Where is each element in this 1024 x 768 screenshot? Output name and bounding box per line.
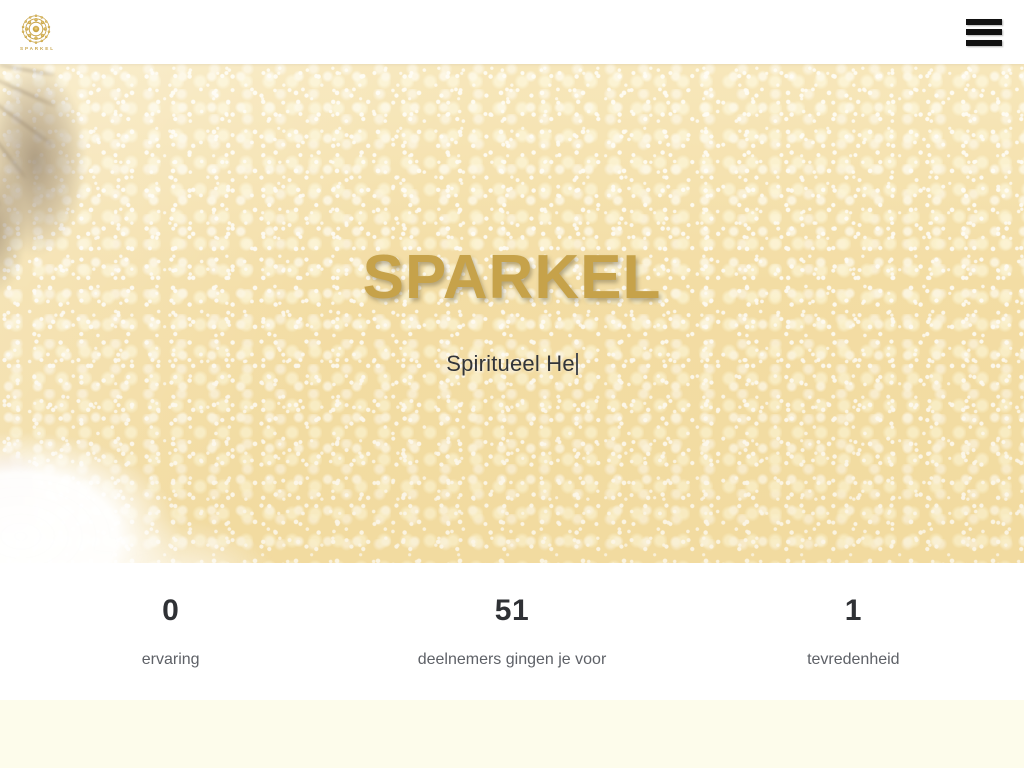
hero-subtitle: Spiritueel He bbox=[0, 351, 1024, 377]
hamburger-menu-icon[interactable] bbox=[966, 19, 1002, 46]
logo-wordmark: SPARKEL bbox=[20, 47, 55, 52]
mandala-icon bbox=[19, 12, 53, 46]
stat-label: tevredenheid bbox=[683, 652, 1024, 668]
stat-value: 1 bbox=[683, 596, 1024, 626]
stats-section: 0 ervaring 51 deelnemers gingen je voor … bbox=[0, 563, 1024, 700]
stat-value: 51 bbox=[341, 596, 682, 626]
next-section bbox=[0, 700, 1024, 768]
stat-value: 0 bbox=[0, 596, 341, 626]
stat-label: ervaring bbox=[0, 652, 341, 668]
hero-title: SPARKEL bbox=[0, 247, 1024, 309]
stat-item-ervaring: 0 ervaring bbox=[0, 596, 341, 668]
hamburger-bar-1 bbox=[966, 19, 1002, 25]
hero-subtitle-text: Spiritueel He bbox=[446, 351, 575, 376]
stat-item-tevredenheid: 1 tevredenheid bbox=[683, 596, 1024, 668]
typing-caret bbox=[576, 353, 578, 375]
stat-label: deelnemers gingen je voor bbox=[341, 652, 682, 668]
hamburger-bar-3 bbox=[966, 40, 1002, 46]
logo-link[interactable]: SPARKEL bbox=[18, 12, 55, 52]
hero-section: SPARKEL Spiritueel He bbox=[0, 64, 1024, 563]
stat-item-deelnemers: 51 deelnemers gingen je voor bbox=[341, 596, 682, 668]
hamburger-bar-2 bbox=[966, 29, 1002, 35]
site-header: SPARKEL bbox=[0, 0, 1024, 64]
